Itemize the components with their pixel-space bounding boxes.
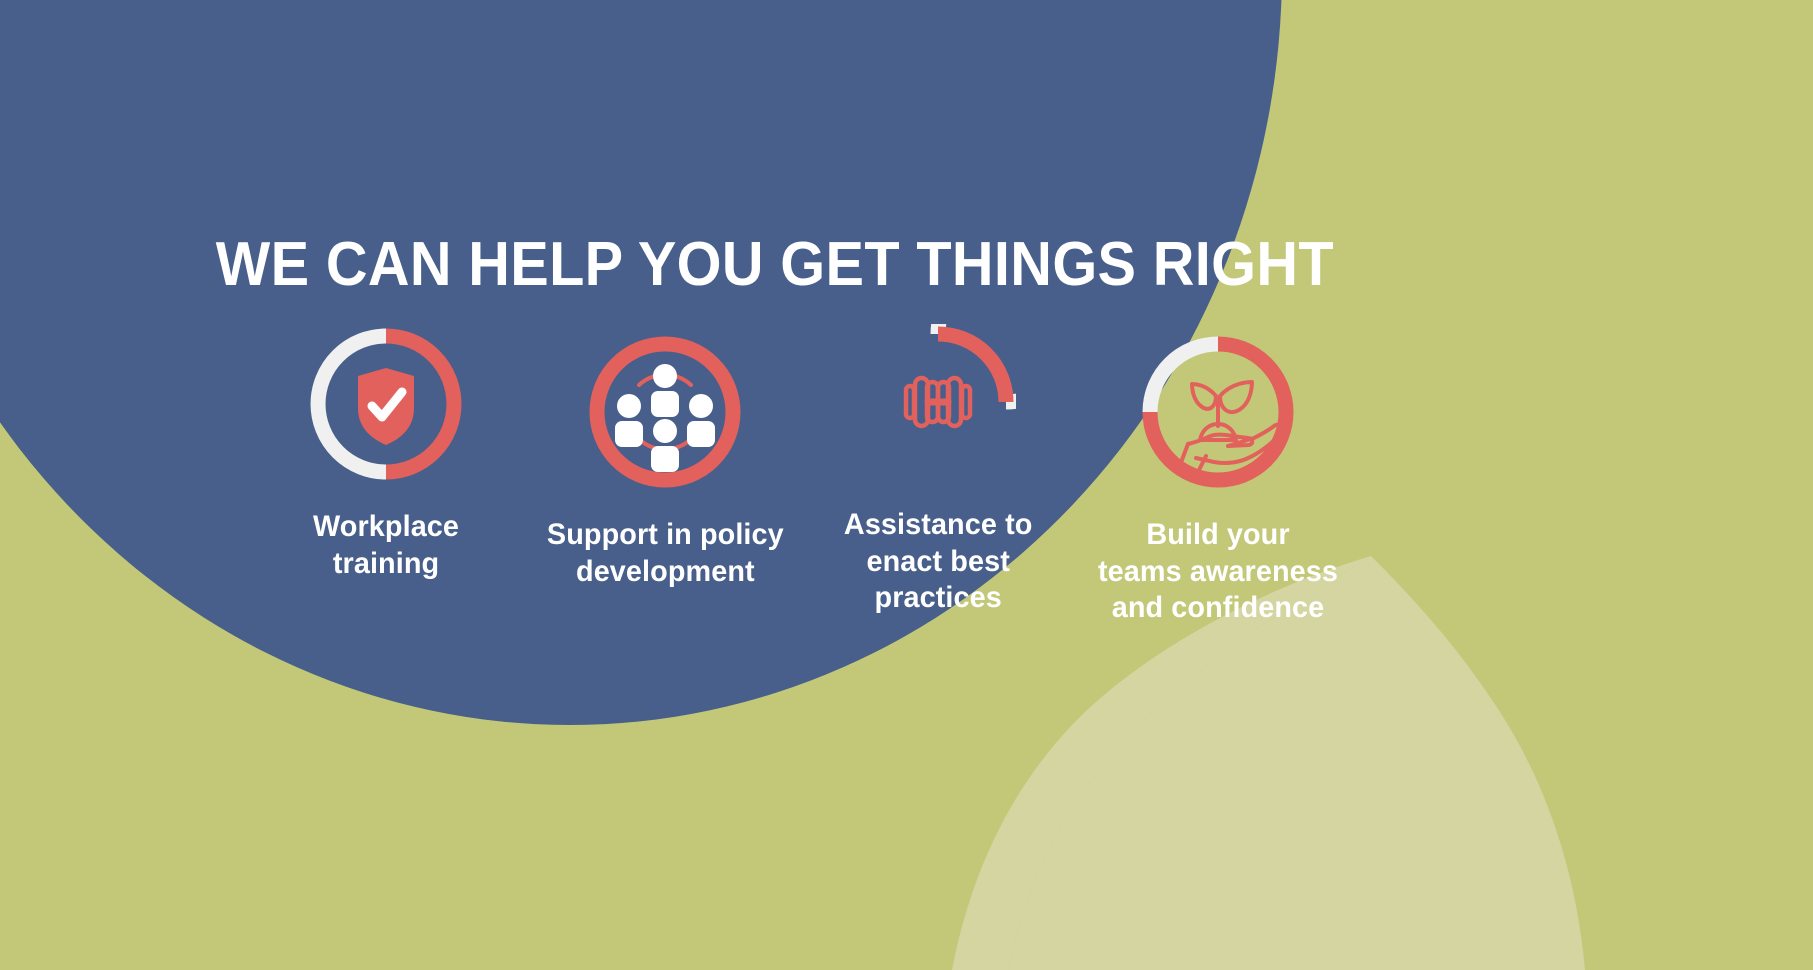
progress-ring-3 <box>860 324 1016 480</box>
progress-ring-1 <box>308 326 464 482</box>
feature-card-workplace-training[interactable]: Workplace training <box>255 326 517 582</box>
people-network-icon <box>615 364 715 472</box>
ring-white-arc <box>1150 344 1218 412</box>
progress-ring-4 <box>1140 334 1296 490</box>
feature-card-label: Workplace training <box>313 509 459 582</box>
shield-check-icon <box>358 368 414 445</box>
feature-card-label: Assistance to enact best practices <box>844 507 1033 617</box>
page-title: WE CAN HELP YOU GET THINGS RIGHT <box>63 233 1749 297</box>
feature-card-policy-development[interactable]: Support in policy development <box>534 334 796 590</box>
feature-card-label: Build your teams awareness and confidenc… <box>1098 517 1338 627</box>
feature-card-label: Support in policy development <box>547 517 784 590</box>
dumbbell-icon <box>906 378 970 426</box>
feature-card-best-practices[interactable]: Assistance to enact best practices <box>807 324 1069 617</box>
feature-card-team-awareness[interactable]: Build your teams awareness and confidenc… <box>1087 334 1349 627</box>
feature-card-row: Workplace training <box>255 326 1345 619</box>
promo-banner: WE CAN HELP YOU GET THINGS RIGHT Workpla… <box>0 0 1813 970</box>
progress-ring-2 <box>587 334 743 490</box>
